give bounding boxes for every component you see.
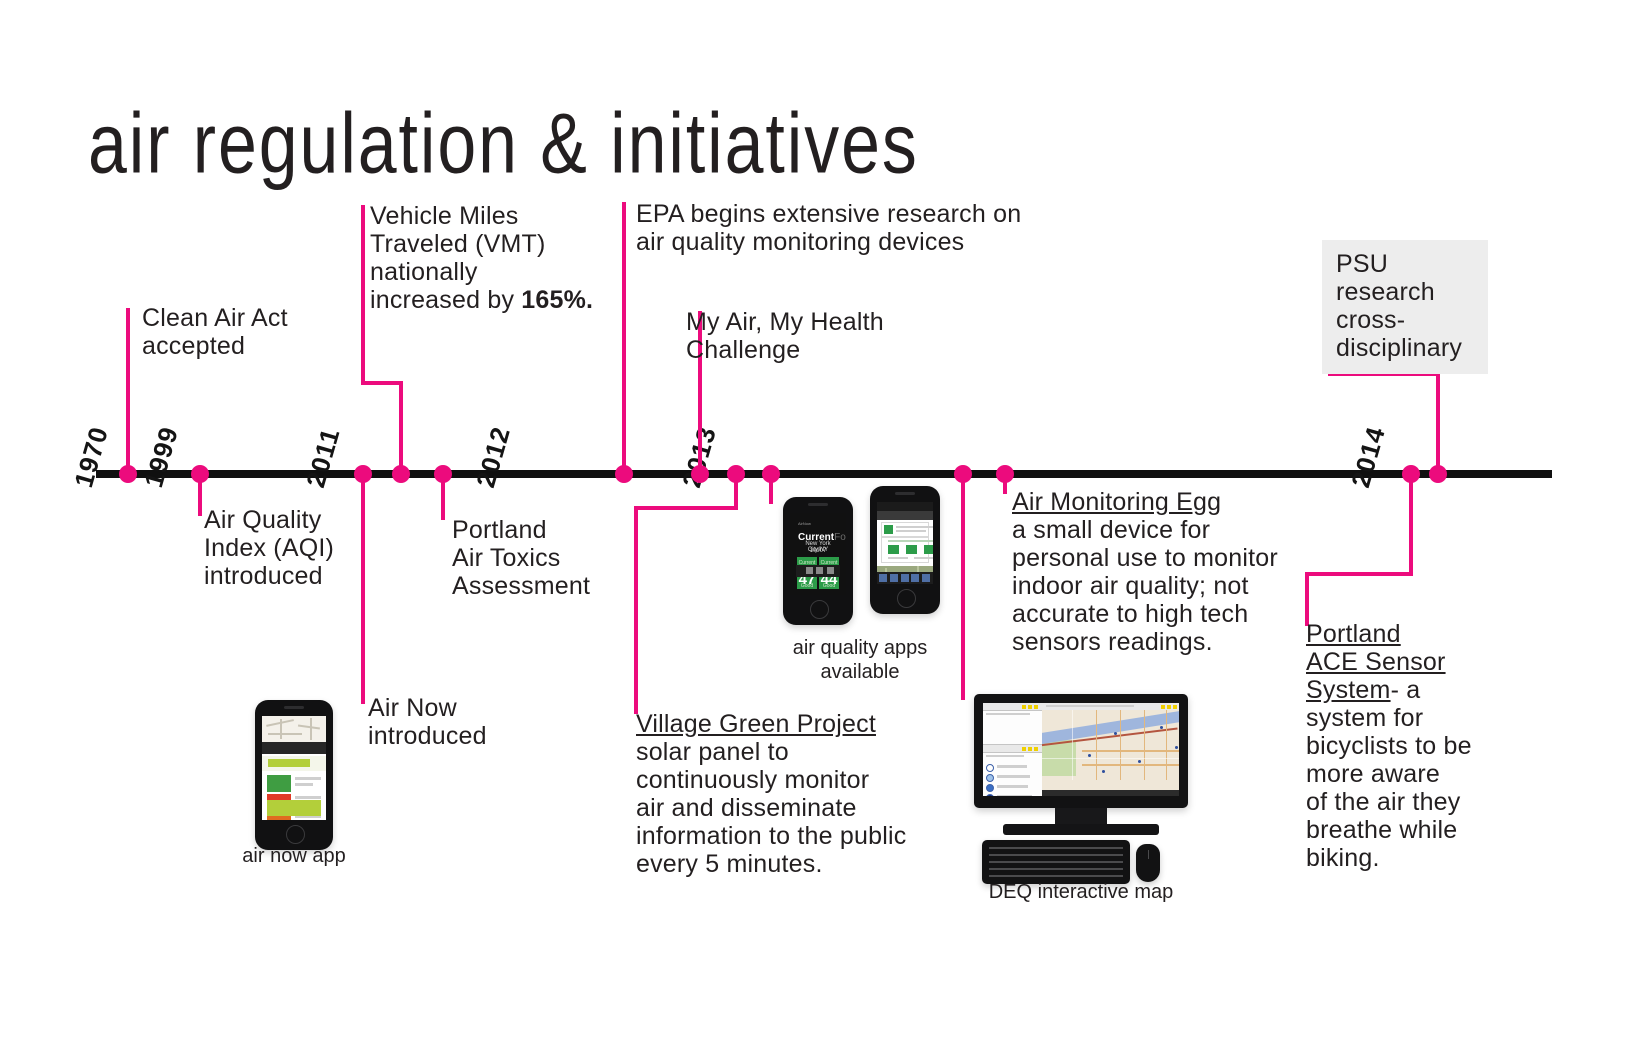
caption-line: available — [770, 660, 950, 684]
leader-vmt-drop — [399, 381, 403, 472]
card-text-line — [896, 530, 926, 532]
card-text-line — [914, 557, 933, 559]
leader-ace-horizontal — [1305, 572, 1413, 576]
legend-item — [986, 762, 1039, 772]
note-line: Air Toxics — [452, 544, 590, 572]
note-line: bicyclists to be — [1306, 732, 1486, 760]
monitor-stand-base — [1003, 824, 1159, 835]
note-line: air quality monitoring devices — [636, 228, 1021, 256]
leader-clean-air-act — [126, 308, 130, 472]
card-text-line — [888, 540, 933, 542]
status-swatch — [884, 525, 893, 534]
note-portland-ace-sensor-system: Portland ACE Sensor System- a system for… — [1306, 620, 1486, 872]
leader-aqi — [198, 472, 202, 516]
note-line: solar panel to — [636, 738, 906, 766]
tile-unit: Good — [797, 583, 817, 589]
note-air-quality-index: Air Quality Index (AQI) introduced — [204, 506, 334, 590]
app-title-bar — [877, 511, 933, 520]
tile-unit: Good — [819, 583, 839, 589]
note-line: a small device for — [1012, 516, 1278, 544]
panel-toolbar — [983, 703, 1042, 711]
card-text-line — [888, 557, 908, 559]
air-quality-forecast-phone-mockup: AirNow CurrentForecast New York City/NY … — [783, 497, 853, 625]
note-line: of the air they — [1306, 788, 1486, 816]
forecast-content: AirNow CurrentForecast New York City/NY … — [796, 521, 840, 577]
map-monitor-site — [1088, 754, 1091, 757]
note-my-air-my-health: My Air, My Health Challenge — [686, 308, 884, 364]
note-clean-air-act: Clean Air Act accepted — [142, 304, 288, 360]
note-title: Village Green Project — [636, 710, 906, 738]
phone-earpiece — [808, 503, 828, 506]
note-line: EPA begins extensive research on — [636, 200, 1021, 228]
legend-item — [986, 782, 1039, 792]
phone-home-button — [897, 589, 916, 608]
deq-map-view — [1042, 710, 1179, 790]
forecast-zip: 10007 — [796, 548, 840, 554]
vmt-percent: 165%. — [521, 286, 593, 314]
note-portland-air-toxics: Portland Air Toxics Assessment — [452, 516, 590, 600]
note-line: research — [1336, 278, 1474, 306]
map-monitor-site — [1138, 760, 1141, 763]
note-line: information to the public — [636, 822, 906, 850]
note-line: system for — [1306, 704, 1486, 732]
infographic-canvas: air regulation & initiatives 1970 1999 2… — [0, 0, 1632, 1056]
map-road — [1166, 710, 1168, 780]
phone-home-button — [286, 825, 305, 844]
note-line: biking. — [1306, 844, 1486, 872]
phone-screen: AirNow CurrentForecast New York City/NY … — [790, 513, 846, 595]
map-monitor-site — [1114, 732, 1117, 735]
forecast-app-ui: AirNow CurrentForecast New York City/NY … — [790, 513, 846, 595]
map-legend — [986, 762, 1039, 796]
vmt-prefix: increased by — [370, 286, 521, 314]
phone-earpiece — [284, 706, 304, 709]
leader-ace-drop — [1409, 472, 1413, 576]
legend-item — [986, 792, 1039, 796]
note-title-line: ACE Sensor — [1306, 648, 1486, 676]
air-quality-map-phone-mockup — [870, 486, 940, 614]
year-label-2011: 2011 — [300, 424, 346, 491]
note-line: cross- — [1336, 306, 1474, 334]
app-header-bar — [262, 742, 326, 754]
forecast-brand: AirNow — [798, 521, 811, 526]
leader-egg — [1003, 472, 1007, 494]
note-air-monitoring-egg: Air Monitoring Egg a small device for pe… — [1012, 488, 1278, 656]
ace-dash: - a — [1391, 676, 1421, 704]
note-line: Traveled (VMT) — [370, 230, 593, 258]
leader-deq — [961, 472, 965, 700]
note-village-green-project: Village Green Project solar panel to con… — [636, 710, 906, 878]
map-grid-line — [1072, 710, 1073, 780]
map-monitor-site — [1160, 726, 1163, 729]
note-line: introduced — [204, 562, 334, 590]
phone-earpiece — [895, 492, 915, 495]
note-line: Assessment — [452, 572, 590, 600]
note-title: Air Monitoring Egg — [1012, 488, 1278, 516]
leader-portland-toxics — [441, 472, 445, 520]
phone-home-button — [810, 600, 829, 619]
leader-vmt-vertical — [361, 205, 365, 383]
deq-desktop-monitor-mockup — [974, 694, 1188, 884]
year-label-1999: 1999 — [138, 423, 185, 491]
caption-deq-interactive-map: DEQ interactive map — [966, 880, 1196, 904]
note-line: sensors readings. — [1012, 628, 1278, 656]
app-sensor-card — [881, 537, 929, 563]
note-title-line-mixed: System- a — [1306, 676, 1486, 704]
note-line: more aware — [1306, 760, 1486, 788]
note-line: Challenge — [686, 336, 884, 364]
note-line: disciplinary — [1336, 334, 1474, 362]
year-label-1970: 1970 — [68, 423, 115, 491]
map-road — [1082, 764, 1179, 766]
note-line-with-emphasis: increased by 165%. — [370, 286, 593, 314]
leader-village-drop — [734, 472, 738, 510]
map-monitor-site — [1102, 770, 1105, 773]
leader-village-vertical — [634, 506, 638, 714]
note-vehicle-miles-traveled: Vehicle Miles Traveled (VMT) nationally … — [370, 202, 593, 314]
note-line: air and disseminate — [636, 794, 906, 822]
phone-status-bar — [877, 502, 933, 511]
sensor-tile — [888, 545, 899, 554]
keyboard — [982, 840, 1130, 884]
monitor-bezel — [974, 694, 1188, 808]
map-grid-line — [1042, 758, 1179, 759]
note-line: breathe while — [1306, 816, 1486, 844]
note-line: Clean Air Act — [142, 304, 288, 332]
page-title: air regulation & initiatives — [88, 96, 919, 193]
map-road — [1120, 710, 1122, 780]
phone-screen — [262, 716, 326, 820]
caption-air-now-app: air now app — [224, 844, 364, 868]
mouse — [1136, 844, 1160, 882]
sensor-tile — [906, 545, 917, 554]
note-title-line: Portland — [1306, 620, 1486, 648]
air-now-phone-mockup — [255, 700, 333, 850]
legend-toolbar — [983, 744, 1042, 753]
app-map-thumbnail — [262, 716, 326, 742]
leader-epa — [622, 202, 626, 472]
panel-title-line — [986, 713, 1030, 715]
caption-line: air quality apps — [770, 636, 950, 660]
note-line: My Air, My Health — [686, 308, 884, 336]
note-line: continuously monitor — [636, 766, 906, 794]
monitor-screen — [983, 703, 1179, 796]
note-line: personal use to monitor — [1012, 544, 1278, 572]
caption-air-quality-apps: air quality apps available — [770, 636, 950, 684]
pollutant-row — [267, 775, 321, 792]
map-road — [1082, 750, 1179, 752]
app-nav-bar — [877, 572, 933, 584]
note-line: Portland — [452, 516, 590, 544]
note-psu-research: PSU research cross- disciplinary — [1336, 250, 1474, 362]
phone-screen — [877, 502, 933, 584]
card-text-line — [896, 526, 933, 528]
legend-item — [986, 772, 1039, 782]
note-line: Air Now — [368, 694, 487, 722]
forecast-nav-bar — [796, 565, 840, 577]
pollutant-text — [295, 777, 321, 789]
psu-research-box: PSU research cross- disciplinary — [1322, 240, 1488, 374]
note-line: accepted — [142, 332, 288, 360]
note-line: PSU — [1336, 250, 1474, 278]
map-monitor-site — [1175, 746, 1178, 749]
note-line: introduced — [368, 722, 487, 750]
note-line: nationally — [370, 258, 593, 286]
map-sidebar-panel — [983, 703, 1043, 796]
note-line: accurate to high tech — [1012, 600, 1278, 628]
year-label-2012: 2012 — [470, 423, 517, 491]
map-status-bar — [1042, 790, 1179, 796]
note-line: Vehicle Miles — [370, 202, 593, 230]
app-section-title — [262, 756, 326, 771]
map-road — [1144, 710, 1146, 780]
note-line: Index (AQI) — [204, 534, 334, 562]
year-label-2014: 2014 — [1345, 423, 1392, 491]
note-line: indoor air quality; not — [1012, 572, 1278, 600]
app-primary-button — [267, 800, 321, 816]
legend-title-line — [986, 755, 1024, 757]
leader-air-now — [361, 472, 365, 704]
map-road — [1096, 710, 1098, 780]
leader-vmt-horizontal — [361, 381, 403, 385]
note-air-now-introduced: Air Now introduced — [368, 694, 487, 750]
leader-ace-vertical — [1305, 572, 1309, 626]
note-line: Air Quality — [204, 506, 334, 534]
note-line: every 5 minutes. — [636, 850, 906, 878]
ace-title-end: System — [1306, 676, 1391, 704]
map-river — [1042, 710, 1179, 744]
leader-apps — [769, 472, 773, 504]
pollutant-chip — [267, 775, 291, 792]
note-epa-research: EPA begins extensive research on air qua… — [636, 200, 1021, 256]
app-info-card — [881, 522, 929, 537]
sensor-tile — [924, 545, 933, 554]
leader-psu-rise — [1436, 372, 1440, 472]
leader-village-horizontal — [634, 506, 738, 510]
